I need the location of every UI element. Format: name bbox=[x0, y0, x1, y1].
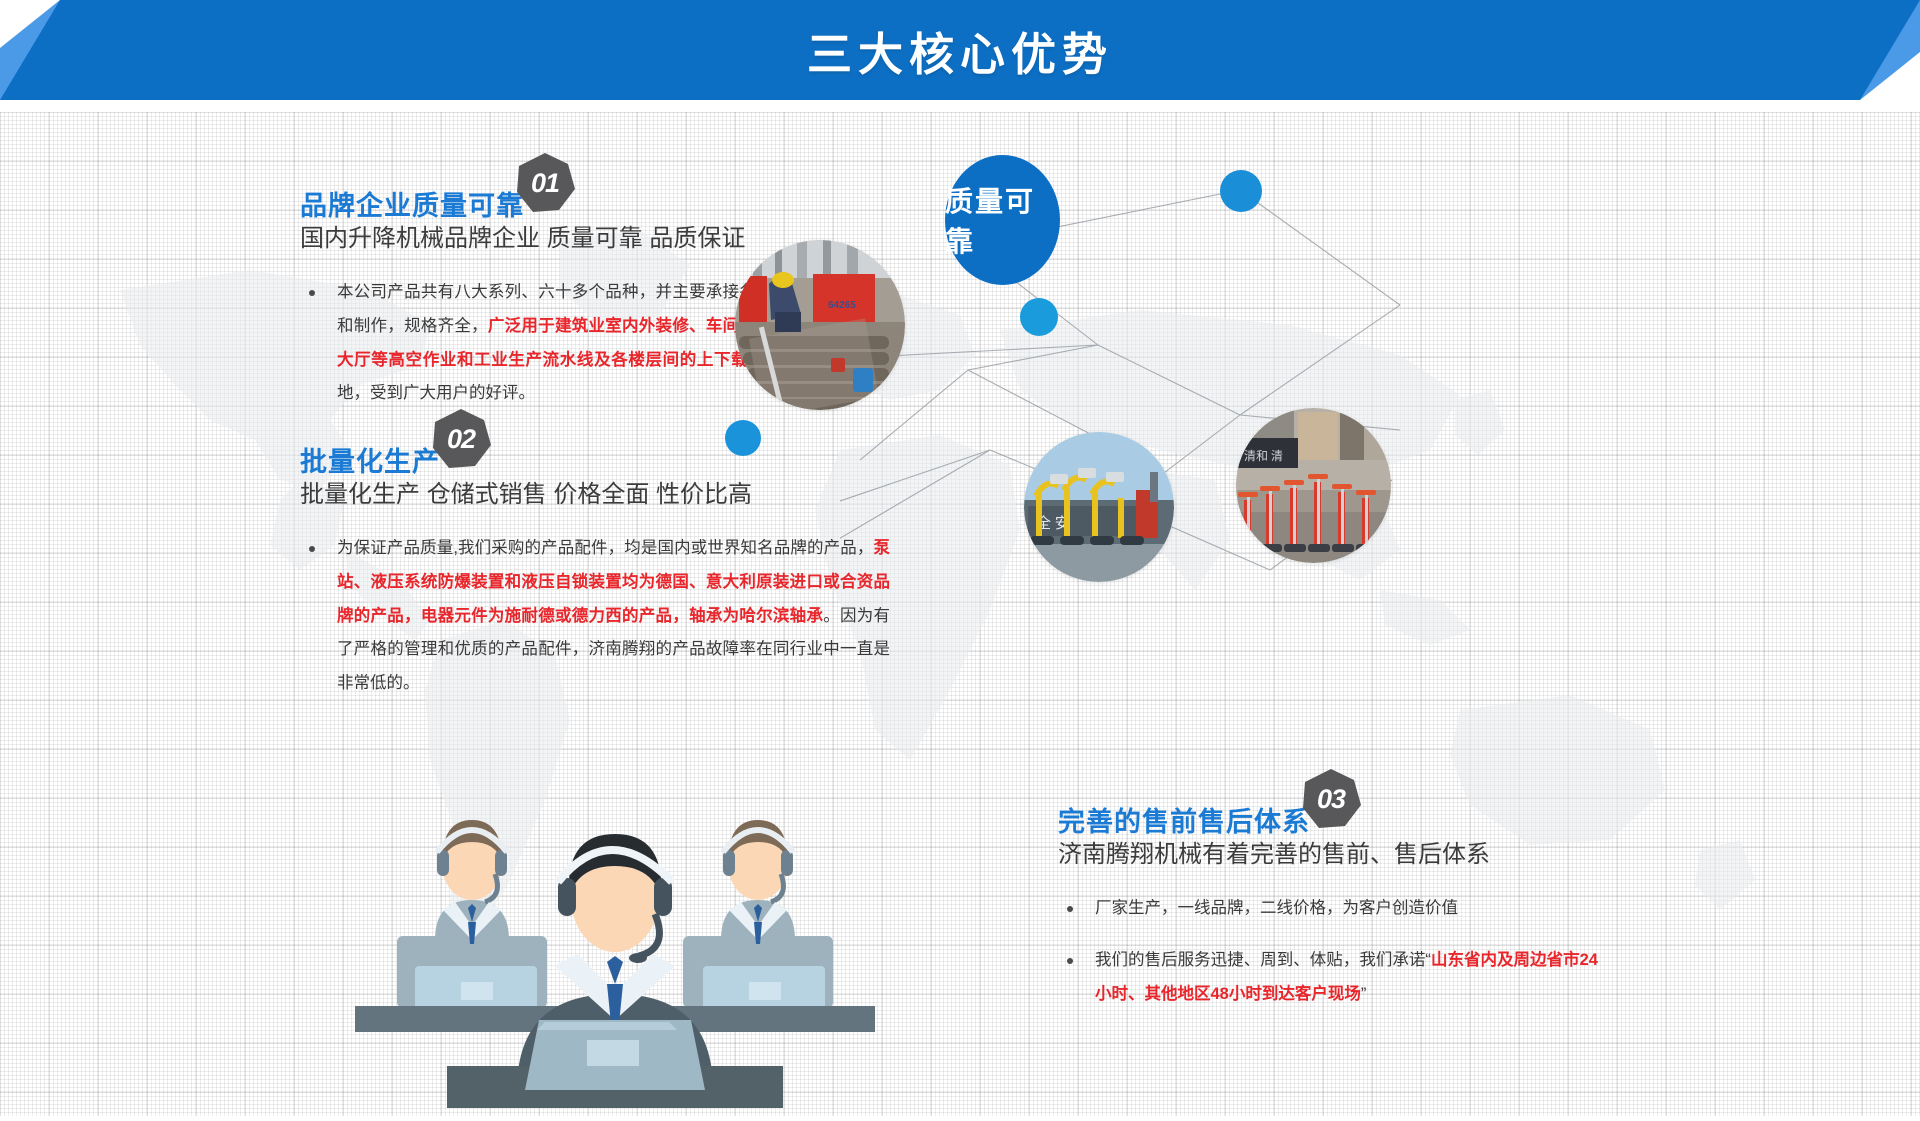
node-top-right bbox=[1220, 170, 1262, 212]
quality-network-diagram: 质量可靠 64265 bbox=[840, 130, 1920, 750]
feature-01-title: 品牌企业质量可靠 bbox=[300, 193, 524, 220]
body-text: 厂家生产，一线品牌，二线价格，为客户创造价值 bbox=[1095, 899, 1458, 917]
agent-right bbox=[683, 820, 833, 1018]
node-center bbox=[1020, 298, 1058, 336]
bullet-item: 为保证产品质量,我们采购的产品配件，均是国内或世界知名品牌的产品，泵站、液压系统… bbox=[300, 532, 890, 701]
body-text: ” bbox=[1361, 985, 1367, 1003]
feature-02-number: 02 bbox=[430, 408, 492, 470]
feature-01-number: 01 bbox=[514, 152, 576, 214]
bullet-item: 厂家生产，一线品牌，二线价格，为客户创造价值 bbox=[1058, 892, 1598, 926]
feature-03-title: 完善的售前售后体系 bbox=[1058, 809, 1310, 836]
svg-text:清和 清: 清和 清 bbox=[1244, 449, 1283, 463]
body-text: 为保证产品质量,我们采购的产品配件，均是国内或世界知名品牌的产品， bbox=[337, 539, 874, 557]
feature-block-02: 批量化生产 02 批量化生产 仓储式销售 价格全面 性价比高 为保证产品质量,我… bbox=[300, 408, 890, 719]
feature-03-subtitle: 济南腾翔机械有着完善的售前、售后体系 bbox=[1058, 840, 1598, 870]
aerial-work-truck-photo: 全 安 bbox=[1024, 432, 1174, 582]
customer-service-team bbox=[355, 790, 875, 1116]
center-node-label: 质量可靠 bbox=[945, 180, 1060, 260]
node-left-bottom bbox=[725, 420, 761, 456]
page-title: 三大核心优势 bbox=[0, 0, 1920, 100]
bullet-item: 我们的售后服务迅捷、周到、体贴，我们承诺“山东省内及周边省市24小时、其他地区4… bbox=[1058, 944, 1598, 1012]
feature-02-bullets: 为保证产品质量,我们采购的产品配件，均是国内或世界知名品牌的产品，泵站、液压系统… bbox=[300, 532, 890, 701]
page-header: 三大核心优势 bbox=[0, 0, 1920, 100]
feature-03-bullets: 厂家生产，一线品牌，二线价格，为客户创造价值 我们的售后服务迅捷、周到、体贴，我… bbox=[1058, 892, 1598, 1011]
feature-03-number: 03 bbox=[1300, 768, 1362, 830]
feature-block-03: 完善的售前售后体系 03 济南腾翔机械有着完善的售前、售后体系 厂家生产，一线品… bbox=[1058, 768, 1598, 1029]
feature-02-title: 批量化生产 bbox=[300, 449, 440, 476]
lift-platform-photo: 清和 清 bbox=[1236, 408, 1391, 563]
feature-02-heading-row: 批量化生产 02 bbox=[300, 408, 890, 476]
body-text: 我们的售后服务迅捷、周到、体贴，我们承诺“ bbox=[1095, 951, 1431, 969]
center-node-quality: 质量可靠 bbox=[945, 155, 1060, 285]
svg-text:64265: 64265 bbox=[828, 300, 856, 311]
feature-03-heading-row: 完善的售前售后体系 03 bbox=[1058, 768, 1598, 836]
feature-02-subtitle: 批量化生产 仓储式销售 价格全面 性价比高 bbox=[300, 480, 890, 510]
feature-01-number-badge: 01 bbox=[514, 152, 576, 214]
agent-left bbox=[397, 820, 547, 1018]
feature-03-number-badge: 03 bbox=[1300, 768, 1362, 830]
feature-01-heading-row: 品牌企业质量可靠 01 bbox=[300, 152, 890, 220]
feature-02-number-badge: 02 bbox=[430, 408, 492, 470]
factory-worker-photo: 64265 bbox=[735, 240, 905, 410]
